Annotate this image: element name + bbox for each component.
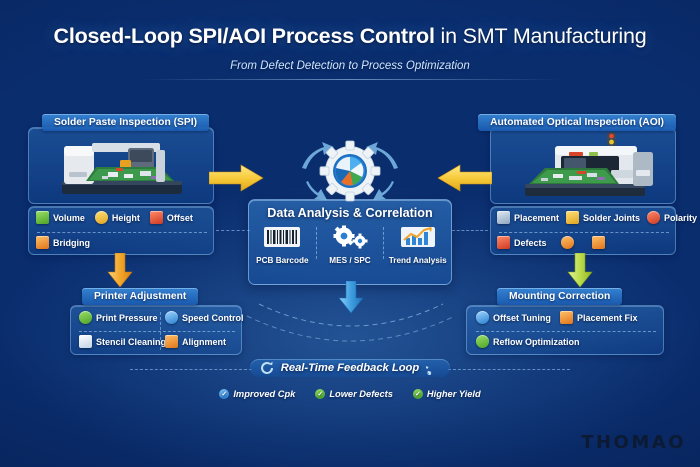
component-grid-icon [592, 236, 605, 249]
mounting-item-offset-tuning[interactable]: Offset Tuning [476, 311, 560, 324]
aoi-illustration-card [490, 127, 676, 204]
benefit-lower-defects[interactable]: ✓ Lower Defects [315, 389, 393, 399]
spi-item-height[interactable]: Height [95, 211, 140, 224]
printer-item-print-pressure-label: Print Pressure [96, 313, 158, 323]
benefit-higher-yield-label: Higher Yield [427, 389, 481, 399]
alignment-icon [165, 335, 178, 348]
benefit-lower-defects-label: Lower Defects [329, 389, 393, 399]
analysis-gear-pie-icon [296, 138, 404, 204]
printer-item-speed-control-label: Speed Control [182, 313, 244, 323]
spi-item-bridging[interactable]: Bridging [36, 236, 90, 249]
infographic-canvas: Closed-Loop SPI/AOI Process Control in S… [0, 0, 700, 467]
spi-item-bridging-label: Bridging [53, 238, 90, 248]
spi-panel-title: Solder Paste Inspection (SPI) [42, 114, 209, 131]
spi-item-offset[interactable]: Offset [150, 211, 193, 224]
spi-illustration-card [28, 127, 214, 204]
mounting-divider-h [476, 331, 656, 332]
feedback-line-left [130, 369, 252, 370]
aoi-item-defects[interactable]: Defects [497, 236, 547, 249]
check-circle-icon: ✓ [315, 389, 325, 399]
printer-adjustment-card: Print Pressure Speed Control Stencil Cle… [70, 305, 242, 355]
page-title-main: Closed-Loop SPI/AOI Process Control [54, 24, 435, 48]
polarity-icon [647, 211, 660, 224]
aoi-item-placement-label: Placement [514, 213, 559, 223]
spi-item-volume[interactable]: Volume [36, 211, 85, 224]
spi-item-height-label: Height [112, 213, 140, 223]
arrow-right-yellow [209, 163, 265, 193]
mounting-row-1: Offset Tuning Placement Fix [476, 311, 638, 324]
spi-metrics-divider [37, 232, 207, 233]
arrow-left-yellow [436, 163, 492, 193]
benefit-improved-cpk[interactable]: ✓ Improved Cpk [219, 389, 295, 399]
height-icon [95, 211, 108, 224]
bridging-icon [36, 236, 49, 249]
aoi-item-polarity[interactable]: Polarity [647, 211, 697, 224]
solder-joints-icon [566, 211, 579, 224]
printer-item-alignment[interactable]: Alignment [165, 335, 226, 348]
paste-print-icon [561, 236, 574, 249]
printer-divider-h [79, 331, 235, 332]
aoi-item-extra-2[interactable] [592, 236, 609, 249]
page-title: Closed-Loop SPI/AOI Process Control in S… [0, 24, 700, 49]
mounting-item-placement-fix[interactable]: Placement Fix [560, 311, 638, 324]
printer-row-2: Stencil Cleaning Alignment [79, 335, 226, 348]
aoi-item-solder-joints-label: Solder Joints [583, 213, 640, 223]
benefit-improved-cpk-label: Improved Cpk [233, 389, 295, 399]
arrow-down-blue [336, 281, 366, 315]
reflow-optimization-icon [476, 335, 489, 348]
refresh-loop-icon [260, 361, 274, 375]
mounting-panel-title: Mounting Correction [497, 288, 622, 305]
aoi-panel-title: Automated Optical Inspection (AOI) [478, 114, 676, 131]
trend-chart-icon [398, 225, 438, 249]
spi-metrics-card: Volume Height Offset Bridging [28, 206, 214, 255]
brand-logo: THOMAO [581, 432, 686, 453]
aoi-machine-icon [511, 130, 661, 202]
page-title-secondary: in SMT Manufacturing [435, 24, 647, 48]
feedback-line-right [448, 369, 570, 370]
offset-tuning-icon [476, 311, 489, 324]
placement-icon [497, 211, 510, 224]
center-item-pcb-barcode[interactable]: PCB Barcode [249, 225, 316, 265]
aoi-metrics-row-1: Placement Solder Joints Polarity [497, 211, 697, 224]
feedback-loop-badge: Real-Time Feedback Loop [250, 359, 450, 377]
aoi-item-solder-joints[interactable]: Solder Joints [566, 211, 640, 224]
printer-row-1: Print Pressure Speed Control [79, 311, 244, 324]
aoi-metrics-row-2: Defects [497, 236, 609, 249]
mounting-correction-card: Offset Tuning Placement Fix Reflow Optim… [466, 305, 664, 355]
printer-item-print-pressure[interactable]: Print Pressure [79, 311, 157, 324]
mounting-item-reflow-optimization[interactable]: Reflow Optimization [476, 335, 580, 348]
spi-metrics-row-2: Bridging [36, 236, 90, 249]
aoi-item-placement[interactable]: Placement [497, 211, 559, 224]
center-item-trend-analysis[interactable]: Trend Analysis [384, 225, 451, 265]
aoi-item-extra-1[interactable] [561, 236, 578, 249]
arrow-down-orange [105, 253, 135, 289]
spi-metrics-row-1: Volume Height Offset [36, 211, 193, 224]
aoi-metrics-card: Placement Solder Joints Polarity Defects [490, 206, 676, 255]
placement-fix-icon [560, 311, 573, 324]
connector-spi-center-lower [216, 230, 250, 231]
center-item-pcb-barcode-label: PCB Barcode [249, 256, 316, 265]
stencil-cleaning-icon [79, 335, 92, 348]
spi-machine-icon [56, 134, 190, 202]
data-analysis-panel: Data Analysis & Correlation PCB Barcode [248, 199, 452, 285]
aoi-metrics-divider [499, 232, 669, 233]
check-circle-icon: ✓ [219, 389, 229, 399]
aoi-item-defects-label: Defects [514, 238, 547, 248]
feedback-loop-section: Real-Time Feedback Loop ✓ Improved Cpk ✓… [0, 359, 700, 399]
center-item-trend-analysis-label: Trend Analysis [384, 256, 451, 265]
print-pressure-icon [79, 311, 92, 324]
header: Closed-Loop SPI/AOI Process Control in S… [0, 0, 700, 80]
benefit-higher-yield[interactable]: ✓ Higher Yield [413, 389, 481, 399]
center-item-mes-spc-label: MES / SPC [317, 256, 384, 265]
aoi-item-polarity-label: Polarity [664, 213, 697, 223]
printer-item-speed-control[interactable]: Speed Control [165, 311, 244, 324]
check-circle-icon: ✓ [413, 389, 423, 399]
speed-control-icon [165, 311, 178, 324]
page-subtitle: From Defect Detection to Process Optimiz… [0, 60, 700, 72]
volume-icon [36, 211, 49, 224]
barcode-icon [262, 225, 302, 249]
printer-item-stencil-cleaning[interactable]: Stencil Cleaning [79, 335, 157, 348]
connector-center-aoi-lower [452, 230, 488, 231]
spi-item-offset-label: Offset [167, 213, 193, 223]
mounting-item-reflow-optimization-label: Reflow Optimization [493, 337, 580, 347]
printer-item-alignment-label: Alignment [182, 337, 226, 347]
header-divider [140, 79, 560, 80]
mounting-item-placement-fix-label: Placement Fix [577, 313, 638, 323]
mounting-row-2: Reflow Optimization [476, 335, 580, 348]
mounting-item-offset-tuning-label: Offset Tuning [493, 313, 551, 323]
arrow-down-green [565, 253, 595, 289]
feedback-loop-label: Real-Time Feedback Loop [281, 362, 419, 374]
data-analysis-items: PCB Barcode [249, 225, 451, 265]
center-item-mes-spc[interactable]: MES / SPC [317, 225, 384, 265]
spi-item-volume-label: Volume [53, 213, 85, 223]
printer-panel-title: Printer Adjustment [82, 288, 198, 305]
offset-icon [150, 211, 163, 224]
printer-item-stencil-cleaning-label: Stencil Cleaning [96, 337, 166, 347]
defects-icon [497, 236, 510, 249]
benefits-row: ✓ Improved Cpk ✓ Lower Defects ✓ Higher … [0, 389, 700, 399]
refresh-loop-icon [426, 361, 440, 375]
data-analysis-title: Data Analysis & Correlation [249, 206, 451, 220]
gears-icon [330, 225, 370, 249]
